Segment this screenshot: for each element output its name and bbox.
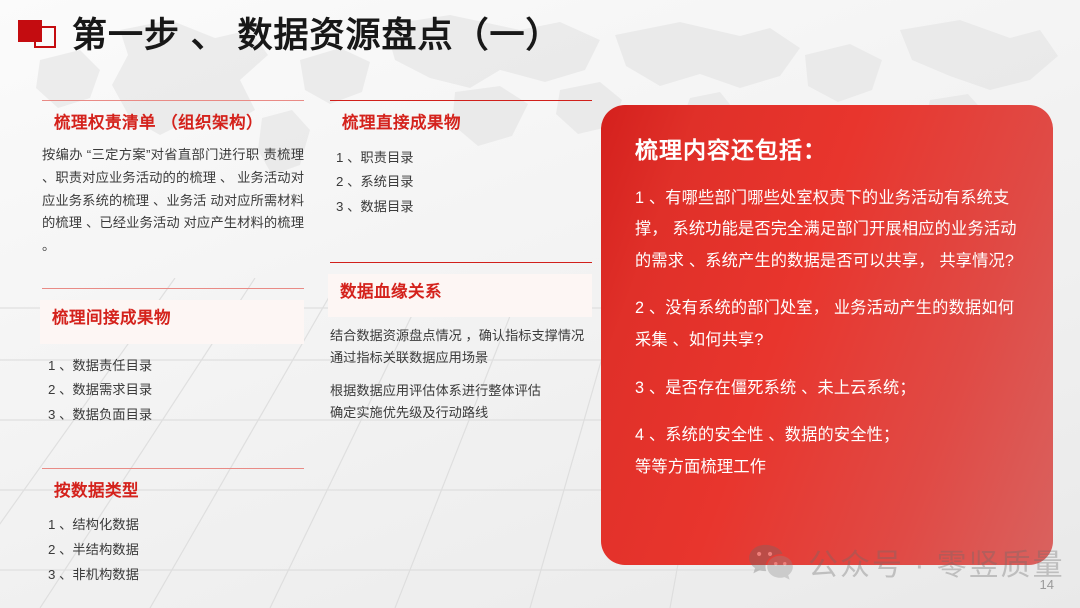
list-item: 3 、数据负面目录 [42,403,304,428]
page-title: 第一步 、 数据资源盘点（一） [72,18,561,53]
list-item: 2 、半结构数据 [42,538,304,563]
list-item: 3 、非机构数据 [42,563,304,588]
page-number: 14 [1040,577,1054,592]
block-heading-indirect-deliverables: 梳理间接成果物 [40,300,304,344]
text-line: 结合数据资源盘点情况 ，确认指标支撑情况 [330,325,592,346]
section-rule [330,262,592,263]
block-heading-direct-deliverables: 梳理直接成果物 [330,112,592,136]
list-direct-deliverables: 1 、职责目录 2 、系统目录 3 、数据目录 [330,146,592,220]
list-item: 1 、职责目录 [330,146,592,171]
slide-title-row: 第一步 、 数据资源盘点（一） [18,18,561,53]
highlight-panel-heading: 梳理内容还包括： [635,137,1023,165]
left-column: 梳理权责清单 （组织架构） 按编办 “三定方案”对省直部门进行职 责梳理 、职责… [42,100,304,589]
text-line: 确定实施优先级及行动路线 [330,402,592,423]
highlight-item: 4 、系统的安全性 、数据的安全性； 等等方面梳理工作 [635,420,1023,483]
section-rule [330,100,592,101]
highlight-item: 2 、没有系统的部门处室， 业务活动产生的数据如何采集 、如何共享? [635,293,1023,356]
slide-root: 第一步 、 数据资源盘点（一） 梳理权责清单 （组织架构） 按编办 “三定方案”… [0,0,1080,608]
block-heading-responsibility-list: 梳理权责清单 （组织架构） [42,112,304,136]
list-data-types: 1 、结构化数据 2 、半结构数据 3 、非机构数据 [42,513,304,587]
list-item: 2 、系统目录 [330,170,592,195]
highlight-item: 1 、有哪些部门哪些处室权责下的业务活动有系统支撑， 系统功能是否完全满足部门开… [635,183,1023,278]
section-rule [42,468,304,469]
highlight-item: 3 、是否存在僵死系统 、未上云系统； [635,373,1023,405]
list-item: 1 、数据责任目录 [42,354,304,379]
text-line: 根据数据应用评估体系进行整体评估 [330,380,592,401]
block-heading-data-types: 按数据类型 [42,480,304,504]
list-item: 2 、数据需求目录 [42,378,304,403]
block-data-types: 按数据类型 1 、结构化数据 2 、半结构数据 3 、非机构数据 [42,468,304,588]
block-paragraph-responsibility-list: 按编办 “三定方案”对省直部门进行职 责梳理 、职责对应业务活动的的梳理 、 业… [42,144,304,258]
block-data-lineage: 数据血缘关系 结合数据资源盘点情况 ，确认指标支撑情况 通过指标关联数据应用场景… [330,262,592,423]
lines-data-lineage: 结合数据资源盘点情况 ，确认指标支撑情况 通过指标关联数据应用场景 根据数据应用… [330,325,592,423]
list-item: 1 、结构化数据 [42,513,304,538]
list-item: 3 、数据目录 [330,195,592,220]
block-indirect-deliverables: 梳理间接成果物 1 、数据责任目录 2 、数据需求目录 3 、数据负面目录 [42,288,304,428]
block-responsibility-list: 梳理权责清单 （组织架构） 按编办 “三定方案”对省直部门进行职 责梳理 、职责… [42,100,304,258]
overlapping-squares-icon [18,19,56,53]
list-indirect-deliverables: 1 、数据责任目录 2 、数据需求目录 3 、数据负面目录 [42,354,304,428]
middle-column: 梳理直接成果物 1 、职责目录 2 、系统目录 3 、数据目录 数据血缘关系 结… [330,100,592,425]
section-rule [42,100,304,101]
block-direct-deliverables: 梳理直接成果物 1 、职责目录 2 、系统目录 3 、数据目录 [330,100,592,220]
highlight-panel-list: 1 、有哪些部门哪些处室权责下的业务活动有系统支撑， 系统功能是否完全满足部门开… [635,183,1023,484]
section-rule [42,288,304,289]
text-line: 通过指标关联数据应用场景 [330,347,592,368]
block-heading-data-lineage: 数据血缘关系 [328,274,592,318]
highlight-panel: 梳理内容还包括： 1 、有哪些部门哪些处室权责下的业务活动有系统支撑， 系统功能… [601,105,1053,565]
